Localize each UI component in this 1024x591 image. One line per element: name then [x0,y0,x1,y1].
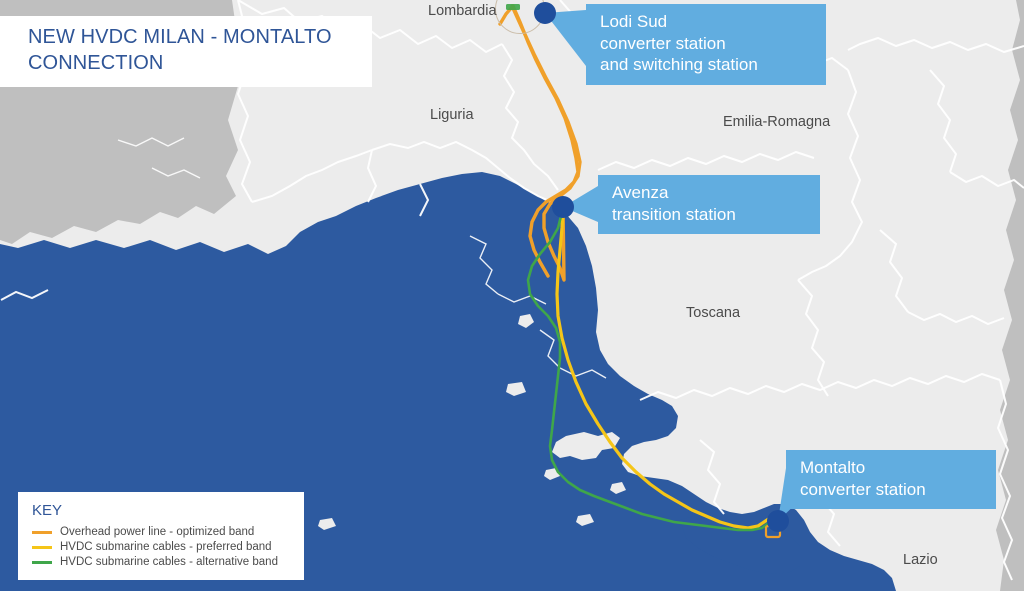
legend-heading: KEY [32,502,292,519]
legend-swatch-overhead [32,531,52,534]
legend-label-overhead: Overhead power line - optimized band [60,526,254,538]
legend-label-preferred: HVDC submarine cables - preferred band [60,541,272,553]
legend-label-alternative: HVDC submarine cables - alternative band [60,556,278,568]
legend-swatch-preferred [32,546,52,549]
map-canvas: NEW HVDC MILAN - MONTALTO CONNECTION Lom… [0,0,1024,591]
node-lodi-sud[interactable] [534,2,556,24]
callout-avenza[interactable]: Avenza transition station [598,175,820,234]
legend-item-alternative: HVDC submarine cables - alternative band [32,556,292,568]
legend-item-overhead: Overhead power line - optimized band [32,526,292,538]
page-title: NEW HVDC MILAN - MONTALTO CONNECTION [28,25,332,76]
map-title-box: NEW HVDC MILAN - MONTALTO CONNECTION [0,16,372,87]
map-legend: KEY Overhead power line - optimized band… [18,492,304,580]
callout-lodi-sud[interactable]: Lodi Sud converter station and switching… [586,4,826,85]
callout-montalto[interactable]: Montalto converter station [786,450,996,509]
node-montalto[interactable] [767,510,789,532]
legend-item-preferred: HVDC submarine cables - preferred band [32,541,292,553]
node-avenza[interactable] [552,196,574,218]
legend-swatch-alternative [32,561,52,564]
